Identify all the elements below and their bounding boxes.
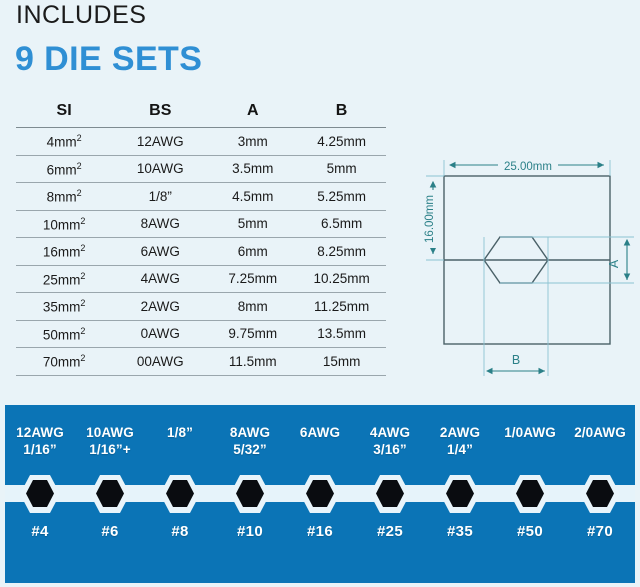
table-row: 10mm28AWG5mm6.5mm <box>16 210 386 238</box>
die-gauge-label: 4AWG 3/16” <box>355 425 425 459</box>
cell-si: 35mm2 <box>16 293 112 321</box>
cell-b: 4.25mm <box>297 128 386 156</box>
hexagon-die-icon[interactable] <box>160 475 200 513</box>
cell-bs: 10AWG <box>112 155 208 183</box>
cell-b: 11.25mm <box>297 293 386 321</box>
table-row: 70mm200AWG11.5mm15mm <box>16 348 386 376</box>
cell-si: 16mm2 <box>16 238 112 266</box>
dimension-b-label: B <box>512 353 520 367</box>
height-dimension-label: 16.00mm <box>424 195 436 243</box>
page-title: 9 DIE SETS <box>15 41 202 78</box>
die-number-label: #16 <box>285 523 355 540</box>
die-number-label: #4 <box>5 523 75 540</box>
die-number-label: #50 <box>495 523 565 540</box>
cell-a: 6mm <box>208 238 297 266</box>
die-gauge-label: 12AWG 1/16” <box>5 425 75 459</box>
table-row: 4mm212AWG3mm4.25mm <box>16 128 386 156</box>
cell-a: 5mm <box>208 210 297 238</box>
die-item[interactable]: 2AWG 1/4”#35 <box>425 405 495 583</box>
table-header-row: SI BS A B <box>16 100 386 128</box>
column-header-si: SI <box>16 100 112 128</box>
cell-si: 10mm2 <box>16 210 112 238</box>
die-gauge-label: 6AWG <box>285 425 355 442</box>
cell-b: 5.25mm <box>297 183 386 211</box>
cell-si: 4mm2 <box>16 128 112 156</box>
die-gauge-label: 1/8” <box>145 425 215 442</box>
die-item[interactable]: 1/0AWG#50 <box>495 405 565 583</box>
die-item[interactable]: 1/8”#8 <box>145 405 215 583</box>
table-row: 50mm20AWG9.75mm13.5mm <box>16 320 386 348</box>
die-number-label: #10 <box>215 523 285 540</box>
cell-bs: 8AWG <box>112 210 208 238</box>
hexagon-die-icon[interactable] <box>90 475 130 513</box>
cell-bs: 00AWG <box>112 348 208 376</box>
cell-bs: 12AWG <box>112 128 208 156</box>
table-row: 6mm210AWG3.5mm5mm <box>16 155 386 183</box>
cell-a: 8mm <box>208 293 297 321</box>
cell-bs: 1/8” <box>112 183 208 211</box>
hexagon-die-icon[interactable] <box>20 475 60 513</box>
die-item[interactable]: 4AWG 3/16”#25 <box>355 405 425 583</box>
die-number-label: #35 <box>425 523 495 540</box>
hexagon-die-icon[interactable] <box>370 475 410 513</box>
die-number-label: #70 <box>565 523 635 540</box>
cell-si: 50mm2 <box>16 320 112 348</box>
die-number-label: #6 <box>75 523 145 540</box>
cell-b: 5mm <box>297 155 386 183</box>
cell-bs: 0AWG <box>112 320 208 348</box>
cell-bs: 2AWG <box>112 293 208 321</box>
table-row: 35mm22AWG8mm11.25mm <box>16 293 386 321</box>
dimension-a-label: A <box>607 259 621 268</box>
cell-si: 70mm2 <box>16 348 112 376</box>
die-gauge-label: 8AWG 5/32” <box>215 425 285 459</box>
table-row: 25mm24AWG7.25mm10.25mm <box>16 265 386 293</box>
hexagon-die-icon[interactable] <box>300 475 340 513</box>
cell-b: 6.5mm <box>297 210 386 238</box>
die-set-band: 12AWG 1/16”#410AWG 1/16”+#61/8”#88AWG 5/… <box>5 405 635 583</box>
cell-si: 6mm2 <box>16 155 112 183</box>
hexagon-die-icon[interactable] <box>510 475 550 513</box>
hexagon-die-icon[interactable] <box>440 475 480 513</box>
die-gauge-label: 1/0AWG <box>495 425 565 442</box>
die-item[interactable]: 8AWG 5/32”#10 <box>215 405 285 583</box>
die-item[interactable]: 2/0AWG#70 <box>565 405 635 583</box>
die-dimension-drawing: 25.00mm 16.00mm A B <box>406 138 640 384</box>
cell-a: 11.5mm <box>208 348 297 376</box>
die-gauge-label: 2AWG 1/4” <box>425 425 495 459</box>
table-body: 4mm212AWG3mm4.25mm6mm210AWG3.5mm5mm8mm21… <box>16 128 386 376</box>
die-number-label: #25 <box>355 523 425 540</box>
cell-si: 8mm2 <box>16 183 112 211</box>
table-row: 16mm26AWG6mm8.25mm <box>16 238 386 266</box>
die-gauge-label: 2/0AWG <box>565 425 635 442</box>
die-number-label: #8 <box>145 523 215 540</box>
table-row: 8mm21/8”4.5mm5.25mm <box>16 183 386 211</box>
cell-a: 4.5mm <box>208 183 297 211</box>
width-dimension-label: 25.00mm <box>504 161 552 173</box>
die-row: 12AWG 1/16”#410AWG 1/16”+#61/8”#88AWG 5/… <box>5 405 635 583</box>
cell-b: 10.25mm <box>297 265 386 293</box>
cell-bs: 4AWG <box>112 265 208 293</box>
column-header-b: B <box>297 100 386 128</box>
cell-a: 3mm <box>208 128 297 156</box>
hexagon-die-icon[interactable] <box>580 475 620 513</box>
cell-a: 7.25mm <box>208 265 297 293</box>
spec-table: SI BS A B 4mm212AWG3mm4.25mm6mm210AWG3.5… <box>16 100 386 376</box>
die-item[interactable]: 6AWG#16 <box>285 405 355 583</box>
kicker-text: INCLUDES <box>16 2 146 30</box>
cell-b: 8.25mm <box>297 238 386 266</box>
cell-a: 3.5mm <box>208 155 297 183</box>
cell-a: 9.75mm <box>208 320 297 348</box>
cell-b: 15mm <box>297 348 386 376</box>
die-gauge-label: 10AWG 1/16”+ <box>75 425 145 459</box>
poster-root: INCLUDES 9 DIE SETS SI BS A B 4mm212AWG3… <box>0 0 640 587</box>
column-header-bs: BS <box>112 100 208 128</box>
cell-bs: 6AWG <box>112 238 208 266</box>
cell-b: 13.5mm <box>297 320 386 348</box>
die-item[interactable]: 10AWG 1/16”+#6 <box>75 405 145 583</box>
column-header-a: A <box>208 100 297 128</box>
die-item[interactable]: 12AWG 1/16”#4 <box>5 405 75 583</box>
hexagon-die-icon[interactable] <box>230 475 270 513</box>
drawing-svg: 25.00mm 16.00mm A B <box>406 138 640 384</box>
cell-si: 25mm2 <box>16 265 112 293</box>
